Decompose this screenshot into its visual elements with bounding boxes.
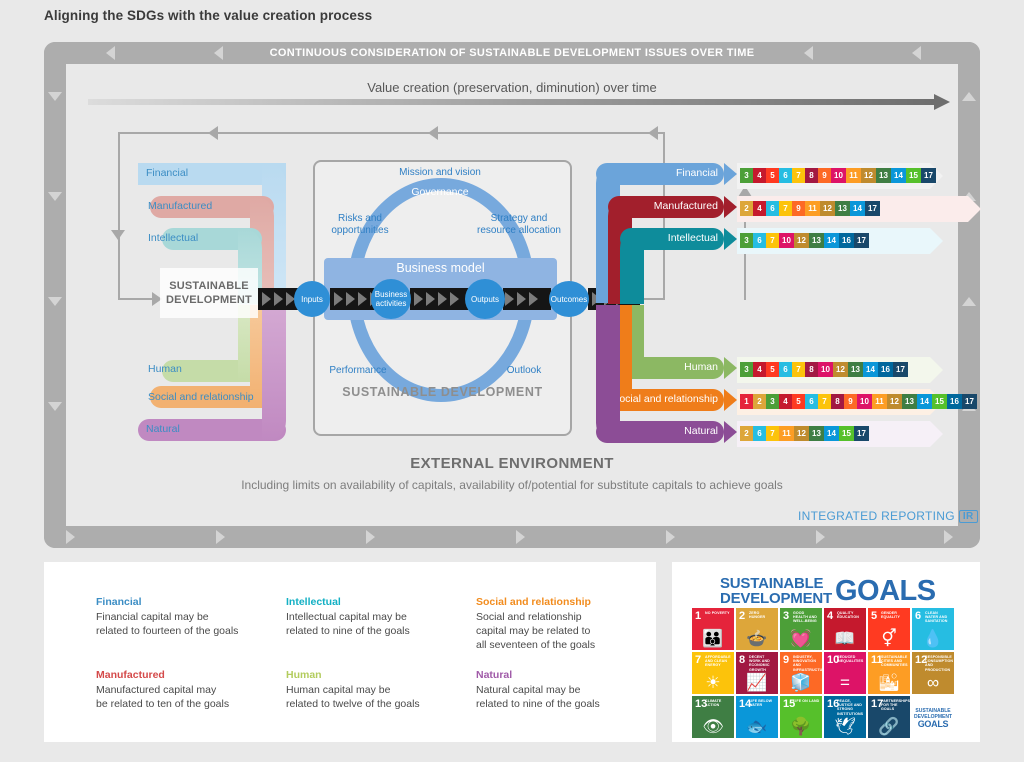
ring-label-risks-line2: opportunities xyxy=(331,225,388,236)
feedback-loop-arrow-down xyxy=(111,230,125,240)
sdg-tile-icon: = xyxy=(824,674,866,691)
sdg-badge-7: 7 xyxy=(766,426,779,441)
frame-arrow-right-6 xyxy=(816,530,825,544)
sdg-badge-4: 4 xyxy=(753,362,766,377)
frame-band-left xyxy=(44,42,66,548)
sdg-badge-3: 3 xyxy=(740,168,753,183)
sdg-tile-title: PARTNERSHIPS FOR THE GOALS xyxy=(881,699,908,712)
legend-body-manufactured: Manufactured capital maybe related to te… xyxy=(96,683,276,711)
legend-title-social: Social and relationship xyxy=(476,596,656,608)
legend-body-line: Human capital may be xyxy=(286,683,466,697)
sdg-badge-13: 13 xyxy=(902,394,917,409)
sdg-strip-intellectual-tip xyxy=(930,228,943,254)
sdg-tile-title: GENDER EQUALITY xyxy=(881,611,908,619)
frame-arrow-right-3 xyxy=(366,530,375,544)
sdg-badge-4: 4 xyxy=(753,201,766,216)
capital-right-label-natural: Natural xyxy=(644,425,718,437)
sdg-badge-13: 13 xyxy=(848,362,863,377)
sdg-badge-7: 7 xyxy=(766,233,779,248)
sdg-badge-10: 10 xyxy=(818,362,833,377)
sdg-badge-5: 5 xyxy=(792,394,805,409)
sdg-tile-title: PEACE, JUSTICE AND STRONG INSTITUTIONS xyxy=(837,699,864,716)
frame-arrow-down-4 xyxy=(48,402,62,411)
sdg-badge-12: 12 xyxy=(833,362,848,377)
sdg-badge-11: 11 xyxy=(872,394,887,409)
sdg-strip-manufactured-tip xyxy=(968,196,981,222)
sdg-tile-number: 7 xyxy=(695,655,701,666)
legend-item-manufactured: ManufacturedManufactured capital maybe r… xyxy=(96,669,276,711)
sdg-tile-title: QUALITY EDUCATION xyxy=(837,611,864,619)
frame-arrow-left-4 xyxy=(912,46,921,60)
legend-item-financial: FinancialFinancial capital may berelated… xyxy=(96,596,276,638)
sdg-tile-14[interactable]: 14LIFE BELOW WATER🐟 xyxy=(736,696,778,738)
integrated-reporting-logo: INTEGRATED REPORTING IR xyxy=(798,509,978,523)
sdg-tile-icon: 🍲 xyxy=(736,630,778,647)
sdg-badge-17: 17 xyxy=(893,362,908,377)
legend-body-line: Financial capital may be xyxy=(96,610,276,624)
sdg-last-goals: GOALS xyxy=(918,721,949,727)
sd-pill-line1: SUSTAINABLE xyxy=(169,279,249,293)
legend-panel: FinancialFinancial capital may berelated… xyxy=(44,562,656,742)
sdg-badge-12: 12 xyxy=(794,426,809,441)
capital-right-social-head xyxy=(724,389,737,411)
sdg-tile-number: 1 xyxy=(695,611,701,622)
sdg-badges-financial: 345678910111213141517 xyxy=(740,168,936,183)
sdg-badge-6: 6 xyxy=(753,233,766,248)
sdg-tile-17[interactable]: 17PARTNERSHIPS FOR THE GOALS🔗 xyxy=(868,696,910,738)
sdg-badge-16: 16 xyxy=(878,362,893,377)
frame-band-bottom xyxy=(44,526,980,548)
sdg-tile-title: GOOD HEALTH AND WELL-BEING xyxy=(793,611,820,624)
sdg-badge-6: 6 xyxy=(805,394,818,409)
ir-logo-text: INTEGRATED REPORTING xyxy=(798,509,955,523)
sdg-tile-title: DECENT WORK AND ECONOMIC GROWTH xyxy=(749,655,776,672)
sdg-badge-3: 3 xyxy=(740,233,753,248)
frame-arrow-left-2 xyxy=(214,46,223,60)
capital-right-label-manufactured: Manufactured xyxy=(626,200,718,212)
sustainable-development-pill: SUSTAINABLE DEVELOPMENT xyxy=(160,268,258,318)
sdg-badge-4: 4 xyxy=(753,168,766,183)
capital-right-label-human: Human xyxy=(638,361,718,373)
sdg-badge-8: 8 xyxy=(805,362,818,377)
sdg-tile-16[interactable]: 16PEACE, JUSTICE AND STRONG INSTITUTIONS… xyxy=(824,696,866,738)
capital-right-human-head xyxy=(724,357,737,379)
legend-item-intellectual: IntellectualIntellectual capital may ber… xyxy=(286,596,466,638)
sdg-tile-icon: 🔗 xyxy=(868,718,910,735)
sdg-tile-3[interactable]: 3GOOD HEALTH AND WELL-BEING💓 xyxy=(780,608,822,650)
legend-item-natural: NaturalNatural capital may berelated to … xyxy=(476,669,656,711)
frame-arrow-right-4 xyxy=(516,530,525,544)
sdg-badge-3: 3 xyxy=(740,362,753,377)
ring-label-mission-and-vision: Mission and vision xyxy=(370,167,510,179)
sdg-tile-icon: 👁 xyxy=(692,718,734,735)
value-creation-arrow xyxy=(88,99,936,105)
sdg-tile-icon: 🧊 xyxy=(780,674,822,691)
sdg-badge-8: 8 xyxy=(805,168,818,183)
sdg-tile-number: 3 xyxy=(783,611,789,622)
feedback-loop-arrow-top-2 xyxy=(428,126,438,140)
legend-body-line: related to twelve of the goals xyxy=(286,697,466,711)
frame-arrow-up-3 xyxy=(962,297,976,306)
ring-label-outlook: Outlook xyxy=(488,365,560,377)
sdg-badges-natural: 267111213141517 xyxy=(740,426,869,441)
frame-band-right xyxy=(958,42,980,548)
capital-right-label-social: Social and relationship xyxy=(610,393,718,405)
sdg-badge-2: 2 xyxy=(740,426,753,441)
sdg-tile-number: 8 xyxy=(739,655,745,666)
ring-label-strategy-and-resource-allocation: Strategy and resource allocation xyxy=(463,213,575,237)
capital-left-label-financial: Financial xyxy=(146,167,188,179)
sdg-badge-11: 11 xyxy=(805,201,820,216)
sdg-badge-16: 16 xyxy=(839,233,854,248)
sdg-tile-title: CLEAN WATER AND SANITATION xyxy=(925,611,952,624)
sdg-tile-title: RESPONSIBLE CONSUMPTION AND PRODUCTION xyxy=(925,655,952,672)
frame-arrow-right-1 xyxy=(66,530,75,544)
sdg-tile-title: CLIMATE ACTION xyxy=(705,699,732,707)
sdg-badge-15: 15 xyxy=(906,168,921,183)
sdg-wordmark-goals: GOALS xyxy=(835,577,936,606)
legend-title-natural: Natural xyxy=(476,669,656,681)
legend-body-line: be related to ten of the goals xyxy=(96,697,276,711)
ring-label-performance: Performance xyxy=(318,365,398,377)
capital-left-label-human: Human xyxy=(148,363,182,375)
feedback-loop-left-vert xyxy=(118,132,120,300)
legend-body-line: Manufactured capital may xyxy=(96,683,276,697)
sdg-badge-10: 10 xyxy=(857,394,872,409)
sdg-tile-icon: ∞ xyxy=(912,674,954,691)
sdg-badge-17: 17 xyxy=(854,233,869,248)
sdg-tile-icon: 🏙 xyxy=(868,674,910,691)
sdg-badge-7: 7 xyxy=(779,201,792,216)
sdg-badge-12: 12 xyxy=(861,168,876,183)
node-business-activities-line2: activities xyxy=(376,299,407,308)
capital-right-natural-elbow xyxy=(596,305,620,443)
sdg-badge-3: 3 xyxy=(766,394,779,409)
capital-left-label-natural: Natural xyxy=(146,423,180,435)
sdg-badge-11: 11 xyxy=(779,426,794,441)
sdg-badge-14: 14 xyxy=(824,426,839,441)
sdg-badge-6: 6 xyxy=(766,201,779,216)
sdg-tile-title: LIFE BELOW WATER xyxy=(749,699,776,707)
sdg-badge-9: 9 xyxy=(844,394,857,409)
legend-body-line: Social and relationship xyxy=(476,610,656,624)
node-business-activities-line1: Business xyxy=(375,290,407,299)
sdg-tile-title: REDUCED INEQUALITIES xyxy=(837,655,864,663)
frame-arrow-down-2 xyxy=(48,192,62,201)
sustainable-development-arc-caption: SUSTAINABLE DEVELOPMENT xyxy=(330,385,555,399)
sdg-tile-icon: 🌳 xyxy=(780,718,822,735)
capital-right-label-financial: Financial xyxy=(614,167,718,179)
sdg-badge-12: 12 xyxy=(887,394,902,409)
value-creation-arrowhead xyxy=(934,94,950,110)
ring-label-risks-and-opportunities: Risks and opportunities xyxy=(320,213,400,237)
sdg-tile-13[interactable]: 13CLIMATE ACTION👁 xyxy=(692,696,734,738)
sdg-badge-12: 12 xyxy=(794,233,809,248)
capital-left-natural-elbow xyxy=(262,305,286,441)
sdg-tile-10[interactable]: 10REDUCED INEQUALITIES= xyxy=(824,652,866,694)
sdg-badge-2: 2 xyxy=(740,201,753,216)
sdg-tile-15[interactable]: 15LIFE ON LAND🌳 xyxy=(780,696,822,738)
capital-left-label-manufactured: Manufactured xyxy=(148,200,212,212)
legend-title-financial: Financial xyxy=(96,596,276,608)
ring-label-governance: Governance xyxy=(390,186,490,198)
sdg-tile-title: ZERO HUNGER xyxy=(749,611,776,619)
flow-bar-outputs-to-outcomes xyxy=(503,288,551,310)
sdg-badge-14: 14 xyxy=(863,362,878,377)
capital-right-label-intellectual: Intellectual xyxy=(638,232,718,244)
node-inputs[interactable]: Inputs xyxy=(294,281,330,317)
capital-left-label-intellectual: Intellectual xyxy=(148,232,198,244)
sdg-badge-12: 12 xyxy=(820,201,835,216)
legend-body-human: Human capital may berelated to twelve of… xyxy=(286,683,466,711)
legend-body-line: related to nine of the goals xyxy=(286,624,466,638)
sd-pill-line2: DEVELOPMENT xyxy=(166,293,252,307)
sdg-tile-11[interactable]: 11SUSTAINABLE CITIES AND COMMUNITIES🏙 xyxy=(868,652,910,694)
sdg-badge-5: 5 xyxy=(766,168,779,183)
sdg-badge-5: 5 xyxy=(766,362,779,377)
page-title: Aligning the SDGs with the value creatio… xyxy=(44,8,372,23)
sdg-badge-9: 9 xyxy=(792,201,805,216)
sdg-tile-6[interactable]: 6CLEAN WATER AND SANITATION💧 xyxy=(912,608,954,650)
legend-body-social: Social and relationshipcapital may be re… xyxy=(476,610,656,652)
frame-arrow-left-3 xyxy=(804,46,813,60)
external-environment-subtitle: Including limits on availability of capi… xyxy=(0,478,1024,492)
node-outcomes[interactable]: Outcomes xyxy=(549,281,589,317)
frame-arrow-right-2 xyxy=(216,530,225,544)
sdg-tile-icon: 👪 xyxy=(692,630,734,647)
sdg-badge-6: 6 xyxy=(779,362,792,377)
feedback-loop-top xyxy=(120,132,665,134)
sdg-tile-title: AFFORDABLE AND CLEAN ENERGY xyxy=(705,655,732,668)
sdg-strip-human-tip xyxy=(930,357,943,383)
legend-body-line: Intellectual capital may be xyxy=(286,610,466,624)
legend-title-human: Human xyxy=(286,669,466,681)
sdg-badge-6: 6 xyxy=(753,426,766,441)
legend-title-manufactured: Manufactured xyxy=(96,669,276,681)
sdg-tile-7[interactable]: 7AFFORDABLE AND CLEAN ENERGY☀ xyxy=(692,652,734,694)
sdg-badge-17: 17 xyxy=(865,201,880,216)
capital-right-manufactured-head xyxy=(724,196,737,218)
sdg-badge-14: 14 xyxy=(824,233,839,248)
sdg-badge-8: 8 xyxy=(831,394,844,409)
sdg-tile-title: SUSTAINABLE CITIES AND COMMUNITIES xyxy=(881,655,908,668)
flow-bar-activities-to-outputs xyxy=(410,288,470,310)
sdg-badge-13: 13 xyxy=(809,426,824,441)
sdg-badge-4: 4 xyxy=(779,394,792,409)
sdg-badge-15: 15 xyxy=(839,426,854,441)
external-environment-title: EXTERNAL ENVIRONMENT xyxy=(0,455,1024,472)
legend-body-financial: Financial capital may berelated to fourt… xyxy=(96,610,276,638)
feedback-loop-arrow-top-3 xyxy=(648,126,658,140)
ring-label-strategy-line2: resource allocation xyxy=(477,225,561,236)
sdg-tile-number: 4 xyxy=(827,611,833,622)
sdg-tile-icon: 🐟 xyxy=(736,718,778,735)
sdg-tile-number: 5 xyxy=(871,611,877,622)
capital-right-intellectual-head xyxy=(724,228,737,250)
frame-arrow-right-5 xyxy=(666,530,675,544)
sdg-badges-manufactured: 246791112131417 xyxy=(740,201,880,216)
ir-logo-mark: IR xyxy=(959,510,978,523)
sdg-tile-title: LIFE ON LAND xyxy=(793,699,820,703)
sdg-badge-11: 11 xyxy=(846,168,861,183)
sdg-tile-icon: 💧 xyxy=(912,630,954,647)
sdg-badges-social: 1234567891011121314151617 xyxy=(740,394,977,409)
sdg-badges-intellectual: 367101213141617 xyxy=(740,233,869,248)
legend-body-line: related to nine of the goals xyxy=(476,697,656,711)
ring-label-strategy-line1: Strategy and xyxy=(491,213,548,224)
sdg-badge-14: 14 xyxy=(917,394,932,409)
capital-left-label-social: Social and relationship xyxy=(148,391,254,403)
frame-arrow-left-1 xyxy=(106,46,115,60)
sdg-tile-2[interactable]: 2ZERO HUNGER🍲 xyxy=(736,608,778,650)
sdg-tile-number: 6 xyxy=(915,611,921,622)
sdg-badge-13: 13 xyxy=(809,233,824,248)
ring-label-risks-line1: Risks and xyxy=(338,213,382,224)
frame-band-label: CONTINUOUS CONSIDERATION OF SUSTAINABLE … xyxy=(44,42,980,64)
sdg-badge-10: 10 xyxy=(779,233,794,248)
sdg-badge-10: 10 xyxy=(831,168,846,183)
sdg-tile-icon: 📖 xyxy=(824,630,866,647)
sdg-tile-icon: 📈 xyxy=(736,674,778,691)
sdg-tile-icon: 💓 xyxy=(780,630,822,647)
feedback-loop-arrow-top-1 xyxy=(208,126,218,140)
sdg-badge-17: 17 xyxy=(921,168,936,183)
frame-arrow-down-3 xyxy=(48,297,62,306)
capital-right-financial-head xyxy=(724,163,737,185)
sdg-badge-16: 16 xyxy=(947,394,962,409)
sdg-badge-9: 9 xyxy=(818,168,831,183)
feedback-loop-left-horiz xyxy=(118,298,156,300)
sdg-badge-2: 2 xyxy=(753,394,766,409)
sdg-tile-icon: ☀ xyxy=(692,674,734,691)
sdg-tile-8[interactable]: 8DECENT WORK AND ECONOMIC GROWTH📈 xyxy=(736,652,778,694)
legend-body-line: all seventeen of the goals xyxy=(476,638,656,652)
sdg-badge-1: 1 xyxy=(740,394,753,409)
sdg-badge-17: 17 xyxy=(962,394,977,409)
sdg-badge-14: 14 xyxy=(850,201,865,216)
node-outputs[interactable]: Outputs xyxy=(465,279,505,319)
sdg-badge-6: 6 xyxy=(779,168,792,183)
legend-item-human: HumanHuman capital may berelated to twel… xyxy=(286,669,466,711)
sdg-tile-12[interactable]: 12RESPONSIBLE CONSUMPTION AND PRODUCTION… xyxy=(912,652,954,694)
legend-item-social: Social and relationshipSocial and relati… xyxy=(476,596,656,652)
sdg-tile-number: 2 xyxy=(739,611,745,622)
sdg-strip-natural-tip xyxy=(930,421,943,447)
sdg-badge-14: 14 xyxy=(891,168,906,183)
sdg-badge-15: 15 xyxy=(932,394,947,409)
legend-body-line: related to fourteen of the goals xyxy=(96,624,276,638)
value-creation-label: Value creation (preservation, diminution… xyxy=(0,80,1024,95)
sdg-tile-5[interactable]: 5GENDER EQUALITY⚥ xyxy=(868,608,910,650)
sdg-tile-title: NO POVERTY xyxy=(705,611,732,615)
sdg-wordmark: SUSTAINABLE DEVELOPMENT GOALS xyxy=(720,576,936,606)
sdg-tile-icon: 🕊 xyxy=(824,718,866,735)
sdg-tile-4[interactable]: 4QUALITY EDUCATION📖 xyxy=(824,608,866,650)
sdg-badge-7: 7 xyxy=(792,168,805,183)
sdg-goal-grid: 1NO POVERTY👪2ZERO HUNGER🍲3GOOD HEALTH AN… xyxy=(692,608,960,738)
legend-body-line: Natural capital may be xyxy=(476,683,656,697)
sdg-badge-13: 13 xyxy=(876,168,891,183)
sdg-badges-human: 345678101213141617 xyxy=(740,362,908,377)
legend-body-intellectual: Intellectual capital may berelated to ni… xyxy=(286,610,466,638)
sdg-tile-wordmark: SUSTAINABLEDEVELOPMENTGOALS xyxy=(912,696,954,738)
sdg-tile-number: 9 xyxy=(783,655,789,666)
sdg-tile-9[interactable]: 9INDUSTRY, INNOVATION AND INFRASTRUCTURE… xyxy=(780,652,822,694)
business-model-title: Business model xyxy=(324,258,557,275)
sdg-tile-title: INDUSTRY, INNOVATION AND INFRASTRUCTURE xyxy=(793,655,820,672)
capital-right-natural-head xyxy=(724,421,737,443)
legend-body-line: capital may be related to xyxy=(476,624,656,638)
sdg-badge-7: 7 xyxy=(792,362,805,377)
sdg-badge-13: 13 xyxy=(835,201,850,216)
sdg-tile-1[interactable]: 1NO POVERTY👪 xyxy=(692,608,734,650)
sdg-panel: SUSTAINABLE DEVELOPMENT GOALS 1NO POVERT… xyxy=(672,562,980,742)
sdg-wordmark-line2: DEVELOPMENT xyxy=(720,591,832,606)
node-business-activities[interactable]: Business activities xyxy=(371,279,411,319)
sdg-badge-7: 7 xyxy=(818,394,831,409)
legend-title-intellectual: Intellectual xyxy=(286,596,466,608)
sdg-badge-17: 17 xyxy=(854,426,869,441)
legend-body-natural: Natural capital may berelated to nine of… xyxy=(476,683,656,711)
sdg-wordmark-line1: SUSTAINABLE xyxy=(720,576,832,591)
sdg-tile-icon: ⚥ xyxy=(868,630,910,647)
frame-arrow-right-7 xyxy=(944,530,953,544)
